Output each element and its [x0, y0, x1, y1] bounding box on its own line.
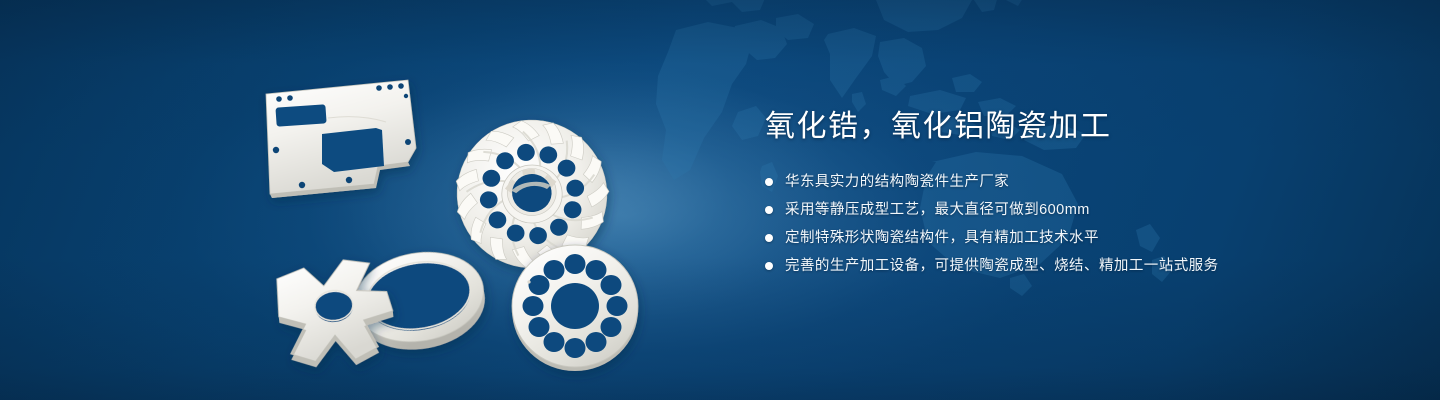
bullet-dot-icon [765, 234, 773, 242]
feature-text: 定制特殊形状陶瓷结构件，具有精加工技术水平 [785, 231, 1099, 246]
feature-text: 采用等静压成型工艺，最大直径可做到600mm [785, 203, 1090, 218]
feature-list: 华东具实力的结构陶瓷件生产厂家 采用等静压成型工艺，最大直径可做到600mm 定… [765, 170, 1325, 277]
banner-copy: 氧化锆，氧化铝陶瓷加工 华东具实力的结构陶瓷件生产厂家 采用等静压成型工艺，最大… [765, 108, 1325, 282]
feature-text: 完善的生产加工设备，可提供陶瓷成型、烧结、精加工一站式服务 [785, 259, 1219, 274]
feature-text: 华东具实力的结构陶瓷件生产厂家 [785, 175, 1009, 190]
feature-item: 华东具实力的结构陶瓷件生产厂家 [765, 170, 1325, 193]
ceramic-products-photo [236, 44, 706, 374]
bullet-dot-icon [765, 262, 773, 270]
ceramic-perforated-disc [512, 245, 638, 371]
bullet-dot-icon [765, 178, 773, 186]
banner-headline: 氧化锆，氧化铝陶瓷加工 [765, 108, 1325, 146]
bullet-dot-icon [765, 206, 773, 214]
feature-item: 完善的生产加工设备，可提供陶瓷成型、烧结、精加工一站式服务 [765, 254, 1325, 277]
feature-item: 定制特殊形状陶瓷结构件，具有精加工技术水平 [765, 226, 1325, 249]
feature-item: 采用等静压成型工艺，最大直径可做到600mm [765, 198, 1325, 221]
ceramic-processing-banner: 氧化锆，氧化铝陶瓷加工 华东具实力的结构陶瓷件生产厂家 采用等静压成型工艺，最大… [0, 0, 1440, 400]
ceramic-mounting-plate [266, 80, 416, 198]
